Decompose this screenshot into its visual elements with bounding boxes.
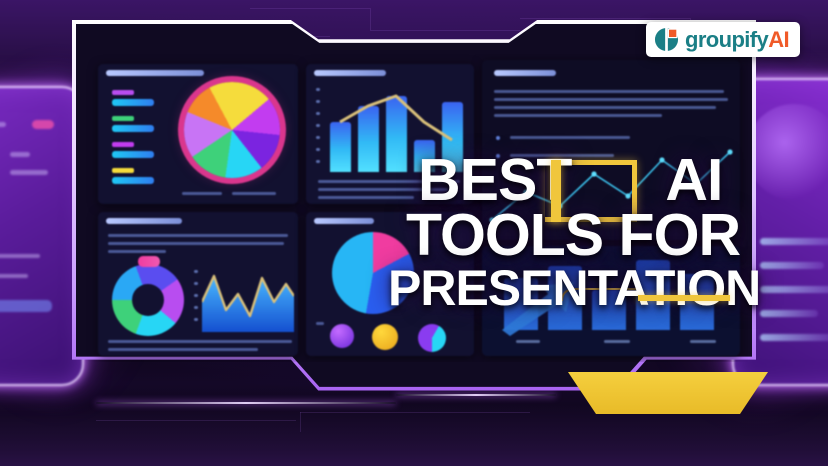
donut-badge: [138, 256, 160, 267]
brand-name-accent: AI: [768, 27, 789, 52]
pie-chart: [184, 82, 280, 178]
headline-underline: [638, 295, 730, 301]
yellow-banner: [568, 372, 768, 414]
card-title: [314, 70, 386, 76]
area-chart: [202, 268, 294, 332]
card-title: [106, 218, 182, 224]
groupify-pie-mark-icon: [654, 27, 679, 52]
pie-chart-card[interactable]: [98, 64, 298, 204]
ai-accent-bar: [551, 160, 561, 222]
headline-line-3: PRESENTATION: [388, 266, 828, 310]
headline-line-2: TOOLS FOR: [406, 210, 828, 262]
headline-group: BESTAI TOOLS FOR PRESENTATION: [418, 155, 828, 310]
donut-chart-card[interactable]: [98, 212, 298, 356]
legend-dot: [330, 324, 354, 348]
brand-logo-text: groupifyAI: [685, 29, 789, 51]
card-title: [494, 70, 556, 76]
headline-line-1: BESTAI: [418, 155, 828, 207]
card-title: [106, 70, 204, 76]
brand-name-primary: groupify: [685, 27, 768, 52]
donut-chart: [112, 264, 184, 336]
slide-canvas: BESTAI TOOLS FOR PRESENTATION groupifyAI: [0, 0, 828, 466]
legend-dot: [372, 324, 398, 350]
brand-logo[interactable]: groupifyAI: [646, 22, 800, 57]
card-title: [314, 218, 374, 224]
legend-dot: [418, 324, 446, 352]
